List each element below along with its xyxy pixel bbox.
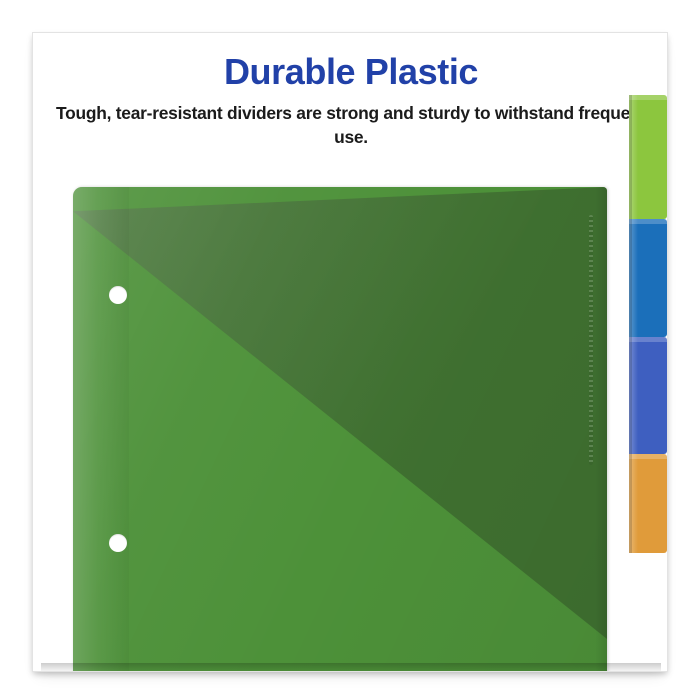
tab-edge-shadow [629,219,632,337]
tab-blue [629,219,667,337]
tab-orange [629,454,667,553]
right-ridge [595,187,607,672]
tab-edge-shadow [629,95,632,219]
body-sheen [73,187,607,672]
tab-edge-shadow [629,337,632,454]
punch-hole-top [109,286,127,304]
perforation-strip [589,215,593,465]
tab-lime-green [629,95,667,219]
binding-strip [73,187,129,672]
tab-indigo [629,337,667,454]
punch-hole-bottom [109,534,127,552]
product-image-card: Durable Plastic Tough, tear-resistant di… [32,32,668,672]
divider-body [73,187,607,672]
product-base-shadow [41,663,661,672]
product-photo [33,33,668,672]
tab-edge-shadow [629,454,632,553]
